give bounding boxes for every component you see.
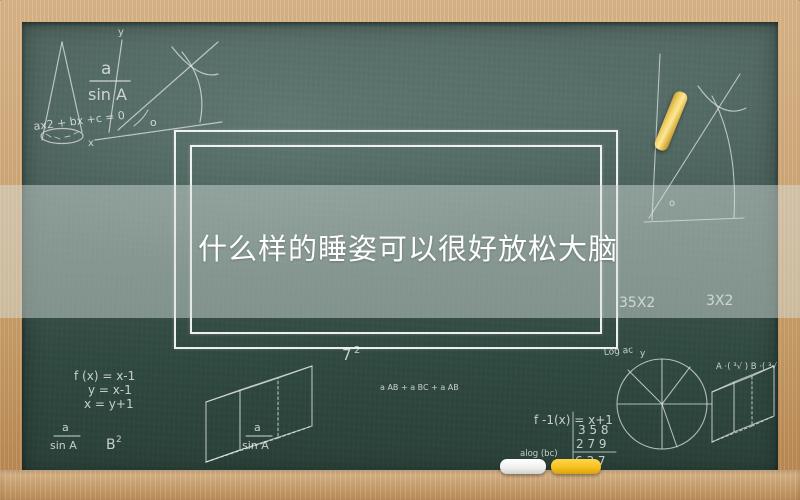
multiply-expression-2: 3X2 bbox=[706, 293, 733, 309]
angle-label-right: o bbox=[669, 198, 675, 209]
fraction-numerator-a: a bbox=[101, 59, 111, 79]
b-squared: B bbox=[106, 437, 116, 453]
fraction-denominator-sin-a: sin A bbox=[88, 85, 127, 104]
circle-sector-diagram bbox=[617, 359, 712, 449]
angle-label-o: o bbox=[150, 116, 157, 129]
banner-title: 什么样的睡姿可以很好放松大脑 bbox=[198, 232, 618, 266]
arithmetic-row-1: 3 5 8 bbox=[578, 423, 609, 437]
cube-diagram-right bbox=[712, 366, 774, 442]
b-squared-power: 2 bbox=[116, 435, 122, 445]
log-expression: alog (bc) bbox=[520, 449, 558, 459]
blackboard-banner-image: a sin A y x o ax2 + bx +c = 0 bbox=[0, 0, 800, 500]
bracket-expression: A ·( ³√ ) B ·( ³√ ) C ·( ³√ ) bbox=[716, 362, 778, 372]
function-line-3: x = y+1 bbox=[84, 397, 134, 411]
multiply-expression-1: 35X2 bbox=[619, 295, 655, 311]
fraction-left-numerator: a bbox=[62, 421, 69, 434]
fraction-left-denominator: sin A bbox=[50, 439, 77, 452]
axis-label-y: y bbox=[118, 27, 124, 38]
function-line-1: f (x) = x-1 bbox=[74, 369, 135, 383]
fraction-mid-numerator: a bbox=[254, 421, 261, 434]
function-line-2: y = x-1 bbox=[88, 383, 132, 397]
faint-expression: a AB + a BC + a AB bbox=[380, 383, 459, 392]
arithmetic-row-2: 2 7 9 bbox=[576, 437, 607, 451]
axis-label-x: x bbox=[88, 138, 94, 149]
quadratic-equation: ax2 + bx +c = 0 bbox=[33, 109, 126, 133]
yellow-chalk-piece bbox=[551, 459, 601, 474]
white-chalk-piece bbox=[500, 459, 546, 474]
axis-label-y-right: y bbox=[640, 349, 646, 359]
chalk-tray-ledge bbox=[0, 470, 800, 500]
fraction-mid-denominator: sin A bbox=[242, 439, 269, 452]
